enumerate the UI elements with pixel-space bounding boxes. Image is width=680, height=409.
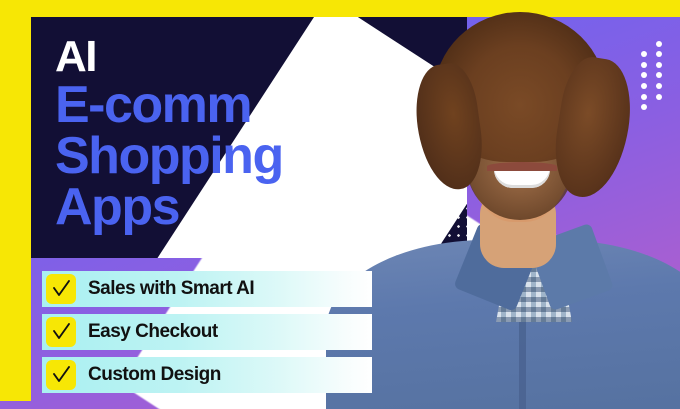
feature-label: Custom Design	[88, 364, 221, 386]
feature-label: Easy Checkout	[88, 321, 218, 343]
smiling-mouth	[494, 166, 550, 188]
check-icon	[46, 274, 76, 304]
list-item[interactable]: Custom Design	[42, 357, 372, 393]
grid-dot	[656, 51, 662, 57]
grid-dot	[641, 94, 647, 100]
headline-ecomm-text: E-comm	[55, 76, 251, 134]
feature-list: Sales with Smart AI Easy Checkout Custom…	[42, 271, 372, 400]
feature-label: Sales with Smart AI	[88, 278, 254, 300]
check-icon	[46, 360, 76, 390]
grid-dot	[641, 62, 647, 68]
grid-dot	[656, 104, 662, 110]
grid-dot	[641, 51, 647, 57]
grid-dot	[641, 41, 647, 47]
ampersand-glyph: &	[263, 86, 288, 124]
list-item[interactable]: Easy Checkout	[42, 314, 372, 350]
grid-dot	[656, 62, 662, 68]
grid-dot	[641, 83, 647, 89]
grid-dot	[656, 41, 662, 47]
curly-hair	[434, 12, 606, 162]
grid-dot	[641, 72, 647, 78]
person-portrait	[368, 0, 668, 409]
grid-dot	[656, 83, 662, 89]
frame-left-yellow	[0, 0, 31, 401]
grid-dot	[656, 94, 662, 100]
grid-dot	[656, 72, 662, 78]
grid-dot	[641, 104, 647, 110]
dot-grid-decoration	[637, 36, 667, 110]
thumbnail-canvas: AI E-comm& Shopping Apps Sales with Smar…	[0, 0, 680, 409]
list-item[interactable]: Sales with Smart AI	[42, 271, 372, 307]
check-icon	[46, 317, 76, 347]
